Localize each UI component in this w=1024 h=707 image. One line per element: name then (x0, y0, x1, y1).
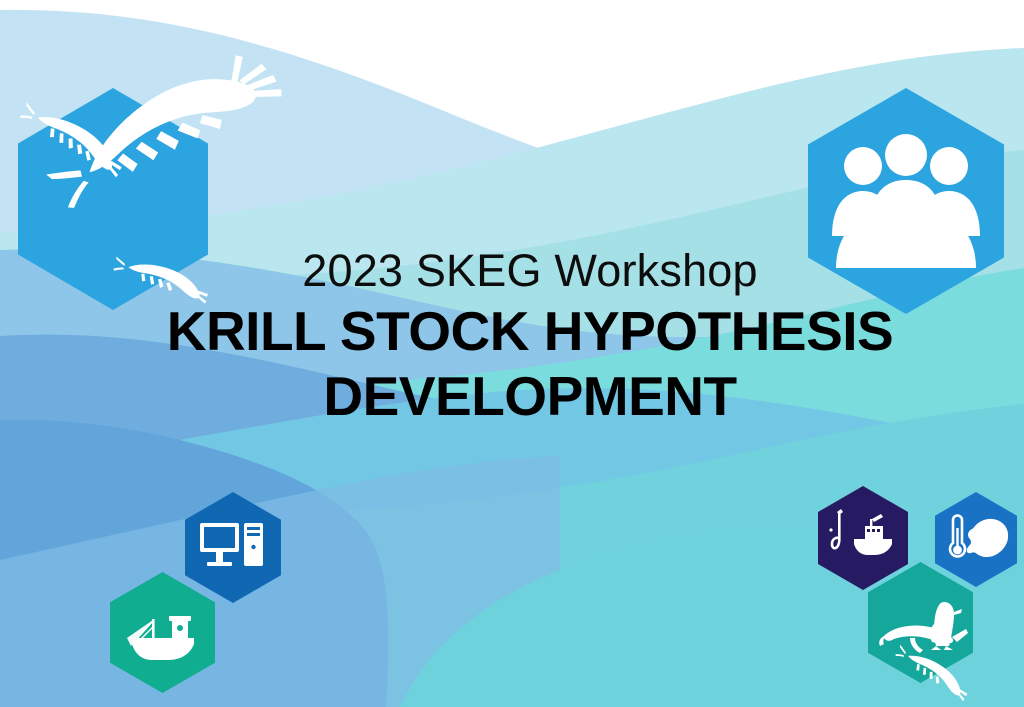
person-head-center (885, 134, 927, 176)
person-head-right (930, 147, 968, 185)
monitor-stand (216, 552, 223, 562)
hook-bait-dot (829, 528, 832, 531)
hexagon-shape (868, 562, 973, 683)
people-group-hexagon-icon (808, 88, 1004, 314)
tower-power-light (251, 545, 255, 549)
ship-window-2 (872, 529, 875, 532)
krill-hexagon-icon (18, 88, 208, 310)
hexagon-shape (110, 572, 215, 693)
boat-wheelhouse-roof (169, 616, 191, 621)
ecosystem-hexagon-icon (868, 562, 973, 683)
ship-deck (854, 539, 892, 544)
people-glyph-group (832, 134, 980, 268)
workshop-title-slide: 2023 SKEG Workshop KRILL STOCK HYPOTHESI… (0, 0, 1024, 707)
fishing-vessel-hexagon-icon (110, 572, 215, 693)
ship-cabin (865, 526, 883, 539)
thermometer-mercury (956, 528, 958, 548)
boat-porthole (177, 625, 183, 631)
ship-window-3 (877, 529, 880, 532)
ship-mast (870, 519, 872, 527)
ship-window-1 (867, 529, 870, 532)
monitor-base (207, 562, 232, 566)
person-head-left (844, 147, 882, 185)
tower-slot-1 (247, 527, 260, 530)
tower-slot-2 (247, 533, 260, 536)
hook-line (838, 514, 841, 540)
